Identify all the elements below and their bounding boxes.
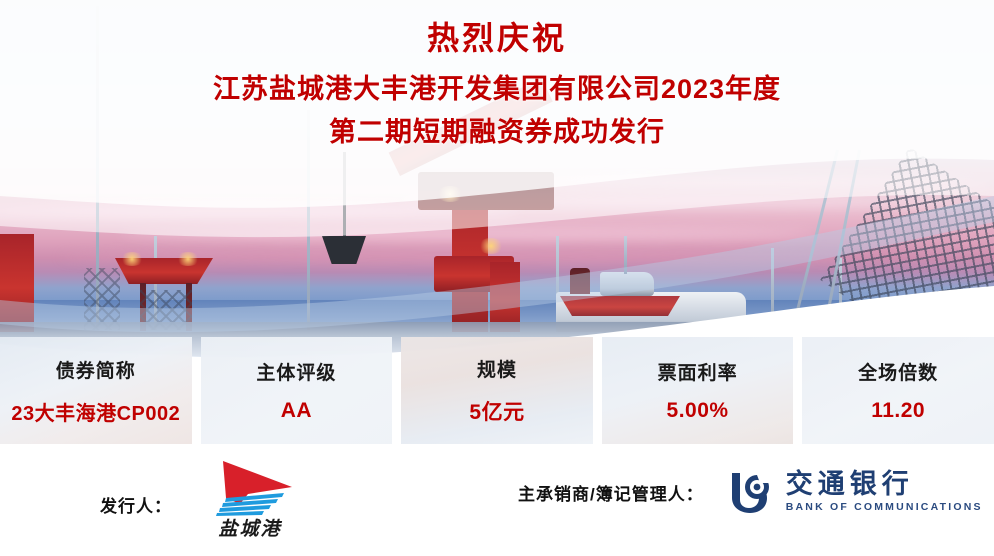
bond-summary-cards: 债券简称 23大丰海港CP002 主体评级 AA 规模 5亿元 票面利率 5.0… [0, 337, 994, 444]
card-label: 债券简称 [56, 356, 136, 383]
platform-light [176, 252, 200, 266]
card-value: 11.20 [871, 399, 925, 423]
bocom-dot [753, 484, 760, 491]
platform-light [120, 252, 144, 266]
crane-spotlight [478, 238, 504, 254]
card-label: 规模 [477, 355, 517, 382]
crane-cable [343, 152, 346, 236]
bocom-name-cn: 交通银行 [786, 471, 983, 498]
bank-of-communications-logo: 交通银行 BANK OF COMMUNICATIONS [726, 470, 983, 514]
light-pole [771, 248, 774, 332]
card-value: AA [281, 399, 312, 423]
boom-light [906, 300, 928, 314]
card-label: 主体评级 [256, 358, 336, 385]
lattice-tower [84, 268, 120, 330]
card-issuer-rating: 主体评级 AA [201, 337, 393, 444]
card-bond-short-name: 债券简称 23大丰海港CP002 [0, 337, 192, 444]
vessel-funnel [570, 268, 590, 294]
issuer-label: 发行人： [100, 492, 172, 517]
card-subscription-multiple: 全场倍数 11.20 [802, 337, 994, 444]
card-label: 全场倍数 [858, 358, 938, 385]
card-label: 票面利率 [658, 358, 738, 385]
page-headline: 热烈庆祝 [0, 18, 994, 58]
yancheng-port-logo: 盐城港 [196, 456, 301, 552]
celebration-poster: 热烈庆祝 江苏盐城港大丰港开发集团有限公司2023年度 第二期短期融资券成功发行… [0, 0, 994, 556]
vessel-mast [624, 236, 627, 274]
card-coupon-rate: 票面利率 5.00% [602, 337, 794, 444]
card-value: 5.00% [667, 399, 729, 423]
subtitle-line-2: 第二期短期融资券成功发行 [0, 113, 994, 152]
crane-spotlight [436, 186, 464, 202]
underwriter-block: 主承销商/簿记管理人： 交通银行 BANK OF COMMUNICATIONS [518, 470, 983, 514]
shore-crane-body [0, 234, 34, 332]
bocom-name-en: BANK OF COMMUNICATIONS [786, 501, 983, 513]
footer: 发行人： 盐城港 主承销商/簿记管理人： [0, 448, 994, 556]
underwriter-label: 主承销商/簿记管理人： [518, 480, 704, 505]
card-value: 23大丰海港CP002 [11, 397, 180, 426]
card-value: 5亿元 [469, 396, 524, 426]
bocom-mark-icon [726, 470, 776, 514]
issuer-block: 发行人： 盐城港 [100, 456, 301, 552]
yancheng-port-wordmark: 盐城港 [204, 514, 296, 541]
bocom-name-group: 交通银行 BANK OF COMMUNICATIONS [786, 471, 983, 513]
subtitle-line-1: 江苏盐城港大丰港开发集团有限公司2023年度 [0, 70, 994, 109]
vessel-bridge [600, 272, 654, 296]
conveyor-platform [560, 296, 680, 316]
title-block: 热烈庆祝 江苏盐城港大丰港开发集团有限公司2023年度 第二期短期融资券成功发行 [0, 18, 994, 152]
yancheng-port-mark [196, 456, 301, 518]
card-issue-size: 规模 5亿元 [401, 337, 593, 444]
